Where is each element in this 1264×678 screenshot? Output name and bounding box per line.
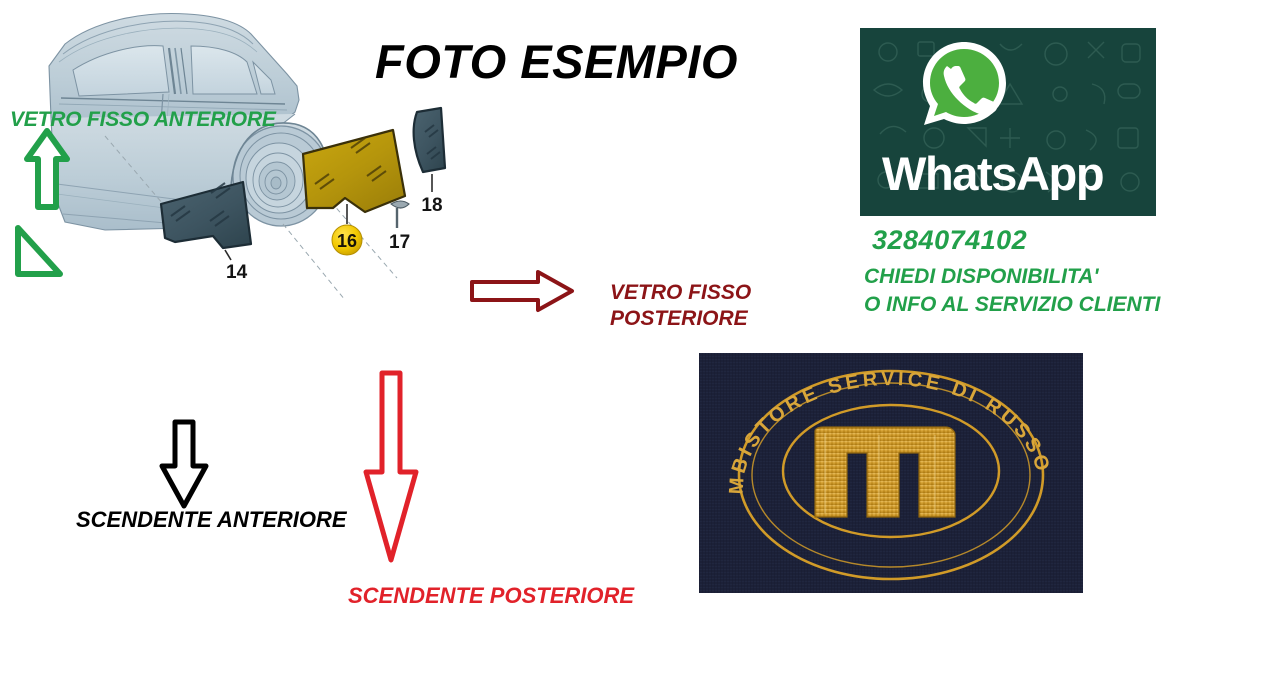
arrow-down-red-icon <box>362 370 420 566</box>
label-scendente-posteriore: SCENDENTE POSTERIORE <box>348 584 634 609</box>
part-number-17: 17 <box>389 232 410 253</box>
contact-phone-number[interactable]: 3284074102 <box>872 225 1027 256</box>
arrow-up-green-icon <box>24 128 70 210</box>
contact-availability-line: CHIEDI DISPONIBILITA' <box>864 265 1098 289</box>
part-number-16: 16 <box>337 231 357 251</box>
part-badge-16: 16 <box>332 225 362 255</box>
arrow-right-darkred-icon <box>468 268 576 314</box>
label-scendente-anteriore: SCENDENTE ANTERIORE <box>76 508 347 533</box>
screenshot-canvas: 14 16 17 <box>0 0 1264 678</box>
page-title: FOTO ESEMPIO <box>375 34 738 89</box>
part-18-glass: 18 <box>414 108 445 216</box>
label-vetro-fisso-posteriore: VETRO FISSO POSTERIORE <box>610 280 751 331</box>
part-17-bolt: 17 <box>389 201 410 253</box>
whatsapp-banner[interactable]: WhatsApp <box>860 28 1156 216</box>
arrow-down-black-icon <box>156 418 212 510</box>
logo-monogram <box>815 427 955 517</box>
contact-service-line: O INFO AL SERVIZIO CLIENTI <box>864 293 1160 317</box>
shop-logo: MRICAMBISTORE SERVICE DI RUSSO MARCO <box>699 353 1083 593</box>
part-number-18: 18 <box>421 195 442 216</box>
whatsapp-phone-icon <box>912 38 1016 146</box>
part-number-14: 14 <box>226 262 248 283</box>
whatsapp-wordmark: WhatsApp <box>882 150 1156 197</box>
triangle-green-icon <box>8 220 66 282</box>
